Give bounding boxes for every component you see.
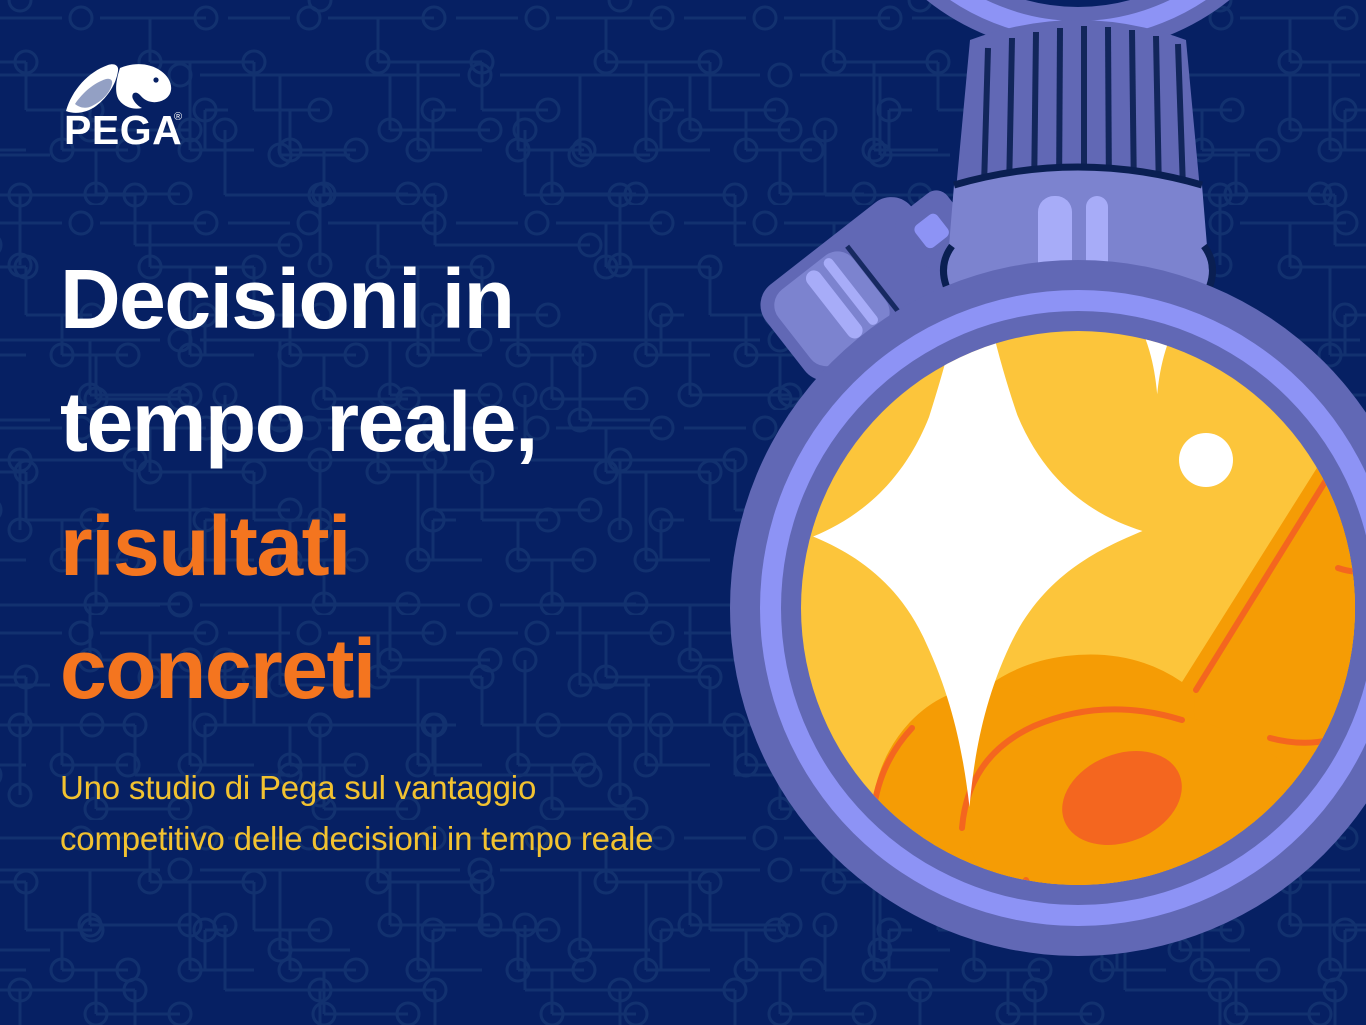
copy-block: Decisioni in tempo reale, risultati conc…: [60, 238, 760, 897]
title-line-1: Decisioni in: [60, 238, 760, 361]
title-line-2: tempo reale,: [60, 361, 760, 484]
registered-trademark-symbol: ®: [174, 111, 182, 123]
page-subtitle: Uno studio di Pega sul vantaggio competi…: [60, 762, 760, 864]
pega-wordmark-text: PEGA: [64, 107, 182, 148]
pega-wordmark: PEGA ®: [64, 107, 182, 148]
pega-horse-icon: [66, 64, 171, 113]
title-line-3: risultati: [60, 485, 760, 608]
cover-slide: PEGA ® Decisioni in tempo reale, risulta…: [0, 0, 1366, 1025]
page-title-primary: Decisioni in tempo reale,: [60, 238, 760, 485]
page-title-accent: risultati concreti: [60, 485, 760, 732]
title-line-4: concreti: [60, 608, 760, 731]
pega-logo[interactable]: PEGA ®: [62, 52, 184, 148]
subtitle-line-1: Uno studio di Pega sul vantaggio: [60, 762, 760, 813]
subtitle-line-2: competitivo delle decisioni in tempo rea…: [60, 813, 760, 864]
